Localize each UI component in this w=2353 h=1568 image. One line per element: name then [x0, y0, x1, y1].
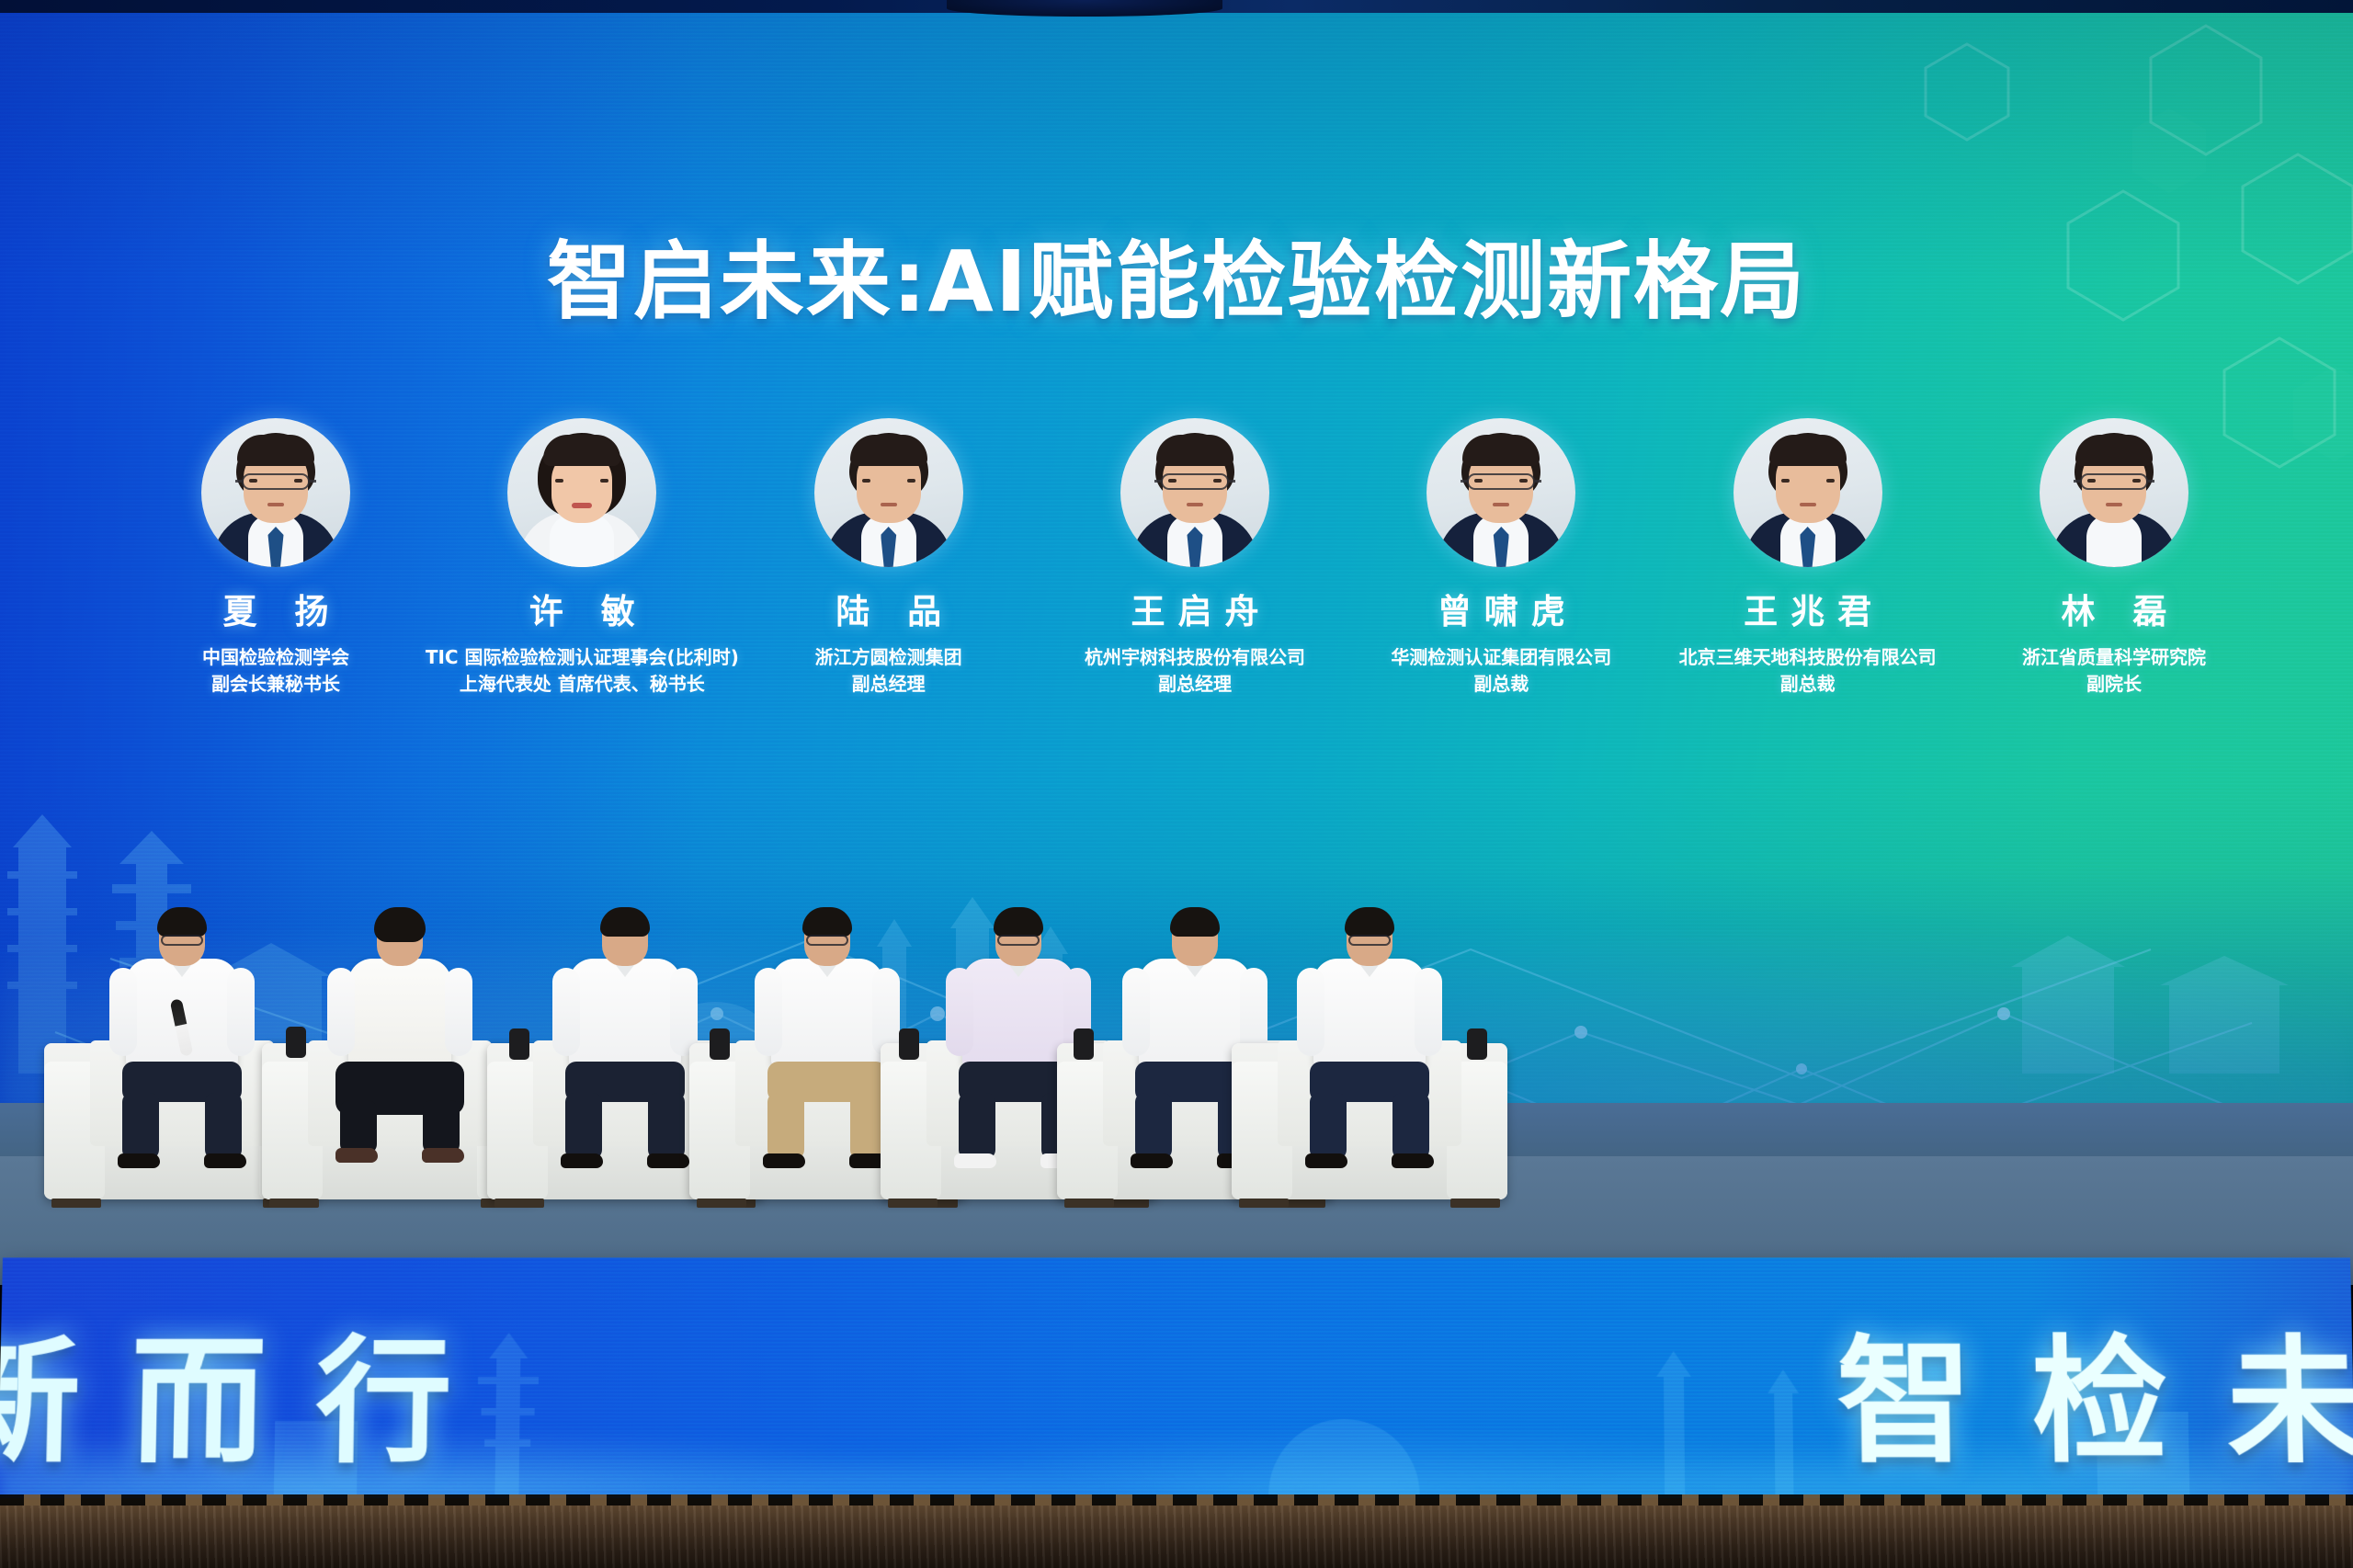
avatar	[507, 418, 656, 567]
speaker-name: 林 磊	[2049, 584, 2180, 633]
microphone-icon	[1074, 1028, 1094, 1060]
speaker-name: 曾啸虎	[1425, 584, 1578, 633]
microphone-icon	[509, 1028, 529, 1060]
speaker-organization: 浙江方圆检测集团	[815, 644, 962, 671]
speaker-organization: 中国检验检测学会	[202, 644, 349, 671]
speaker-name: 王兆君	[1731, 584, 1884, 633]
speaker-role: 副院长	[2086, 671, 2142, 698]
banner-text-left: 新而行	[0, 1290, 503, 1488]
microphone-icon	[710, 1028, 730, 1060]
microphone-icon	[1467, 1028, 1487, 1060]
speaker-lineup: 夏 扬 中国检验检测学会 副会长兼秘书长 许 敏 TIC 国际检验检测认证理事会…	[138, 418, 2252, 722]
avatar	[814, 418, 963, 567]
speaker-organization: 浙江省质量科学研究院	[2022, 644, 2206, 671]
avatar	[201, 418, 350, 567]
wooden-floor-grain	[0, 1506, 2353, 1568]
speaker-organization: TIC 国际检验检测认证理事会(比利时)	[426, 644, 739, 671]
speaker-organization: 杭州宇树科技股份有限公司	[1085, 644, 1305, 671]
speaker-card: 王启舟 杭州宇树科技股份有限公司 副总经理	[1057, 418, 1333, 698]
stage-edge-dashes	[0, 1494, 2353, 1506]
microphone-icon	[286, 1027, 306, 1058]
speaker-role: 副总经理	[1158, 671, 1232, 698]
ceiling-fixture	[947, 0, 1222, 17]
avatar	[1427, 418, 1575, 567]
speaker-role: 副总经理	[852, 671, 926, 698]
speaker-name: 陆 品	[823, 584, 954, 633]
speaker-role: 副总裁	[1780, 671, 1836, 698]
speaker-role: 上海代表处 首席代表、秘书长	[460, 671, 705, 698]
microphone-icon	[899, 1028, 919, 1060]
speaker-card: 许 敏 TIC 国际检验检测认证理事会(比利时) 上海代表处 首席代表、秘书长	[444, 418, 720, 698]
speaker-card: 王兆君 北京三维天地科技股份有限公司 副总裁	[1670, 418, 1946, 698]
session-title: 智启未来:AI赋能检验检测新格局	[0, 213, 2353, 335]
avatar	[1733, 418, 1882, 567]
avatar	[2040, 418, 2188, 567]
speaker-role: 副会长兼秘书长	[211, 671, 340, 698]
speaker-organization: 北京三维天地科技股份有限公司	[1679, 644, 1937, 671]
panelist-figure	[1282, 911, 1457, 1168]
speaker-name: 夏 扬	[210, 584, 342, 633]
avatar	[1120, 418, 1269, 567]
speaker-card: 曾啸虎 华测检测认证集团有限公司 副总裁	[1363, 418, 1639, 698]
panelist-figure	[313, 911, 487, 1168]
panel-discussion-seating	[0, 878, 2353, 1199]
speaker-organization: 华测检测认证集团有限公司	[1391, 644, 1611, 671]
speaker-role: 副总裁	[1473, 671, 1529, 698]
speaker-card: 陆 品 浙江方圆检测集团 副总经理	[751, 418, 1027, 698]
speaker-card: 林 磊 浙江省质量科学研究院 副院长	[1976, 418, 2252, 698]
speaker-name: 许 敏	[517, 584, 648, 633]
panelist-figure	[538, 911, 712, 1168]
speaker-card: 夏 扬 中国检验检测学会 副会长兼秘书长	[138, 418, 414, 698]
banner-text-right: 智检未	[1836, 1290, 2353, 1488]
lower-led-banner: 新而行 智检未	[0, 1257, 2353, 1504]
panelist-seat	[1232, 878, 1507, 1199]
panelist-figure	[95, 911, 269, 1168]
speaker-name: 王启舟	[1118, 584, 1271, 633]
conference-stage-photo: 智启未来:AI赋能检验检测新格局 夏 扬 中国检验检测学会 副会长兼秘书长 许 …	[0, 0, 2353, 1568]
